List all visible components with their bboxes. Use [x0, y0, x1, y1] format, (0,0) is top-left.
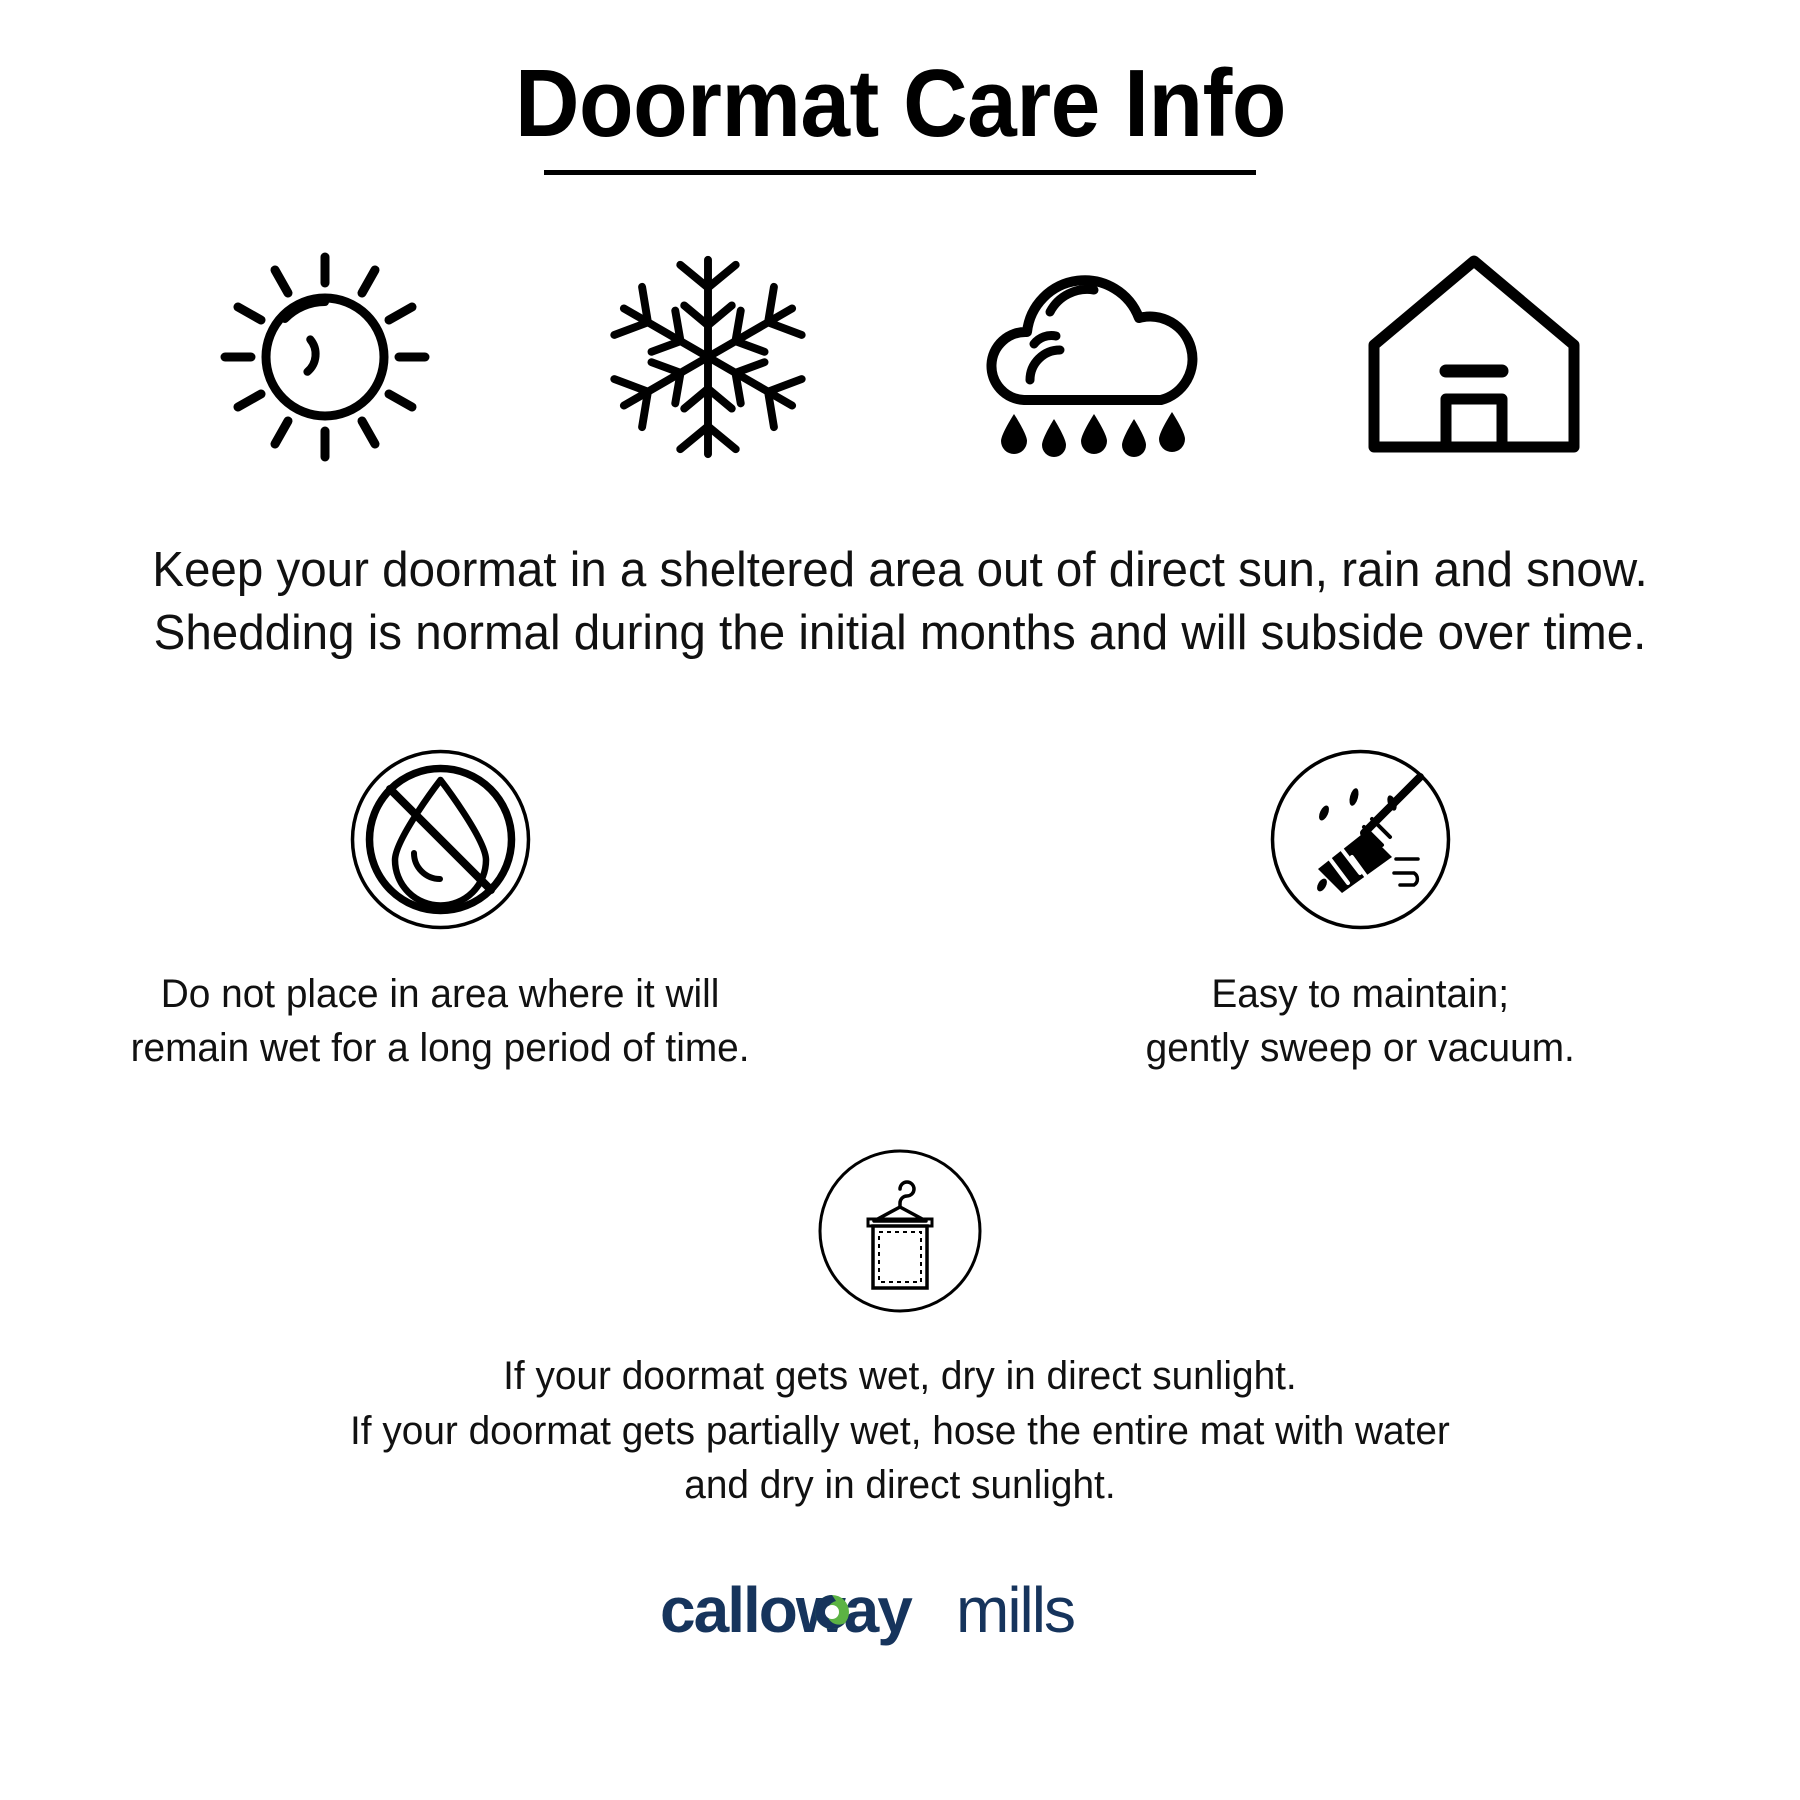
intro-line-1: Keep your doormat in a sheltered area ou… — [105, 539, 1696, 603]
tip-line-1: If your doormat gets wet, dry in direct … — [350, 1349, 1450, 1403]
tip-line-3: and dry in direct sunlight. — [350, 1458, 1450, 1512]
rain-drops — [1001, 412, 1185, 457]
tip-text-broom: Easy to maintain; gently sweep or vacuum… — [1145, 968, 1574, 1075]
tip-text-drying: If your doormat gets wet, dry in direct … — [350, 1349, 1450, 1512]
logo-word-mills: mills — [956, 1574, 1074, 1646]
house-icon — [1362, 249, 1587, 464]
page-title: Doormat Care Info — [515, 52, 1286, 156]
weather-icon-row — [200, 237, 1600, 477]
snowflake-icon — [599, 248, 817, 466]
weather-cell-house — [1350, 237, 1600, 477]
weather-cell-snowflake — [583, 237, 833, 477]
tip-line-2: gently sweep or vacuum. — [1145, 1022, 1574, 1076]
no-water-icon — [348, 747, 533, 932]
tip-icon-wrap-hanging-mat — [814, 1145, 986, 1317]
tips-row: Do not place in area where it will remai… — [90, 744, 1710, 1075]
weather-cell-rain-cloud — [967, 237, 1217, 477]
rain-cloud-icon — [972, 252, 1212, 462]
logo-swirl-icon — [815, 1595, 849, 1629]
tip-no-standing-water: Do not place in area where it will remai… — [90, 744, 790, 1075]
title-underline — [544, 170, 1256, 175]
tip-line-2: If your doormat gets partially wet, hose… — [350, 1404, 1450, 1458]
calloway-mills-logo: calloway mills — [660, 1574, 1140, 1654]
tip-line-1: Do not place in area where it will — [131, 968, 750, 1022]
tip-line-1: Easy to maintain; — [1145, 968, 1574, 1022]
intro-line-2: Shedding is normal during the initial mo… — [105, 602, 1696, 666]
tip-text-no-water: Do not place in area where it will remai… — [131, 968, 750, 1075]
hanging-mat-icon — [816, 1147, 984, 1315]
tip-icon-wrap-broom — [1265, 744, 1455, 934]
tip-easy-to-maintain: Easy to maintain; gently sweep or vacuum… — [1010, 744, 1710, 1075]
brand-logo: calloway mills — [0, 1574, 1800, 1654]
sun-icon — [215, 247, 435, 467]
infographic-page: Doormat Care Info — [0, 0, 1800, 1800]
tip-drying-instructions: If your doormat gets wet, dry in direct … — [0, 1145, 1800, 1512]
intro-paragraph: Keep your doormat in a sheltered area ou… — [105, 539, 1696, 666]
tip-icon-wrap-no-water — [345, 744, 535, 934]
logo-word-calloway: calloway — [660, 1574, 913, 1646]
broom-icon — [1268, 747, 1453, 932]
tip-line-2: remain wet for a long period of time. — [131, 1022, 750, 1076]
weather-cell-sun — [200, 237, 450, 477]
title-block: Doormat Care Info — [0, 52, 1800, 175]
